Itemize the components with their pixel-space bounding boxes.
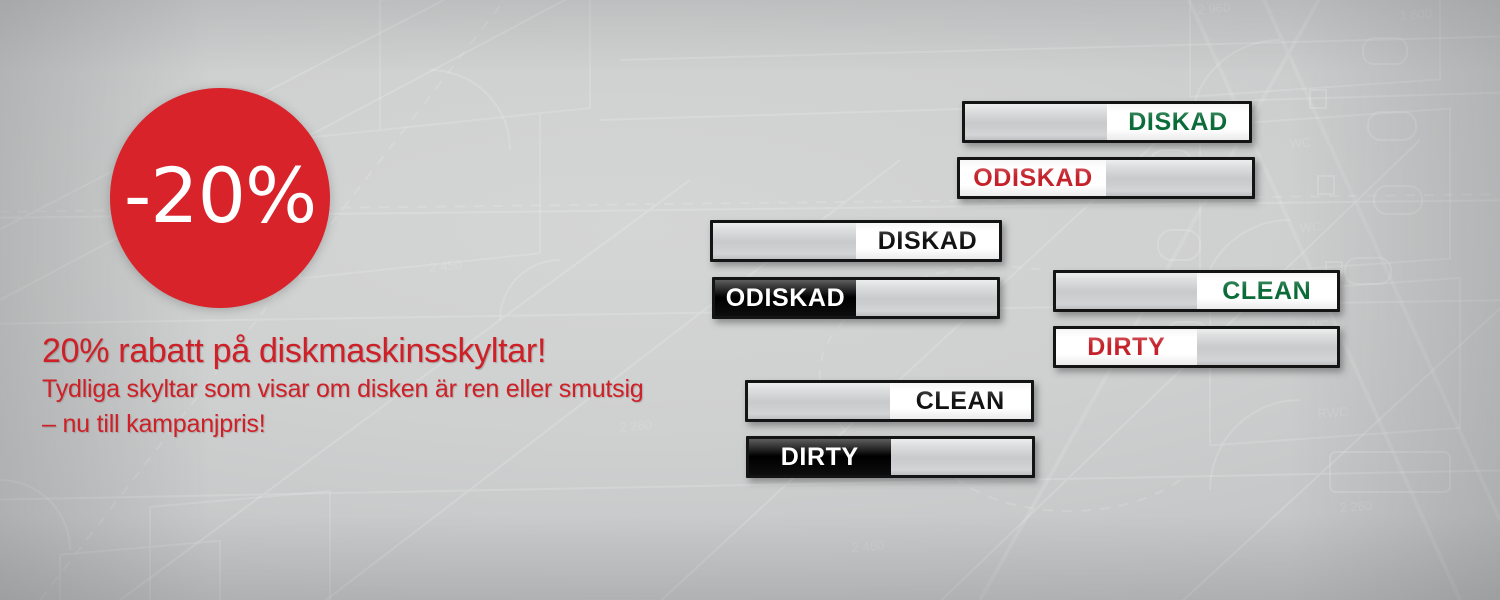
- sign-panel: ODISKAD: [715, 280, 856, 316]
- sign-face: DISKAD: [965, 104, 1249, 140]
- sign-blank-half: [1056, 273, 1197, 309]
- sign-label: CLEAN: [916, 387, 1005, 416]
- sign-label: CLEAN: [1222, 277, 1311, 306]
- sign-blank-half: [713, 223, 856, 259]
- sign-panel: CLEAN: [1197, 273, 1338, 309]
- sign-blank-half: [1106, 160, 1252, 196]
- sign-face: ODISKAD: [715, 280, 997, 316]
- sign-diskad-color: DISKAD: [962, 101, 1252, 143]
- sign-odiskad-mono: ODISKAD: [712, 277, 1000, 319]
- sign-dirty-mono: DIRTY: [746, 436, 1035, 478]
- sign-label: DIRTY: [781, 443, 859, 472]
- sign-panel: CLEAN: [890, 383, 1032, 419]
- promo-banner: WC WC WC RWC 2 260 2 460 2 960 1 600 2 4…: [0, 0, 1500, 600]
- sign-face: CLEAN: [748, 383, 1031, 419]
- sign-panel: DISKAD: [1107, 104, 1249, 140]
- sign-panel: DIRTY: [749, 439, 891, 475]
- sign-label: DISKAD: [1128, 108, 1227, 137]
- sign-face: CLEAN: [1056, 273, 1337, 309]
- sign-diskad-mono: DISKAD: [710, 220, 1002, 262]
- sign-face: DIRTY: [749, 439, 1032, 475]
- sign-blank-half: [965, 104, 1107, 140]
- sign-face: DIRTY: [1056, 329, 1337, 365]
- sign-label: DISKAD: [878, 227, 977, 256]
- sign-panel: ODISKAD: [960, 160, 1106, 196]
- discount-badge-label: -20%: [124, 158, 316, 234]
- sign-dirty-color: DIRTY: [1053, 326, 1340, 368]
- discount-badge: -20%: [110, 88, 330, 308]
- sign-blank-half: [748, 383, 890, 419]
- promo-subline-1: Tydliga skyltar som visar om disken är r…: [42, 373, 722, 405]
- sign-blank-half: [1197, 329, 1338, 365]
- promo-headline: 20% rabatt på diskmaskinsskyltar!: [42, 332, 722, 370]
- sign-blank-half: [856, 280, 997, 316]
- sign-clean-color: CLEAN: [1053, 270, 1340, 312]
- sign-label: ODISKAD: [973, 164, 1092, 193]
- sign-face: DISKAD: [713, 223, 999, 259]
- promo-subline-2: – nu till kampanjpris!: [42, 408, 722, 440]
- sign-label: ODISKAD: [726, 284, 845, 313]
- sign-face: ODISKAD: [960, 160, 1252, 196]
- sign-blank-half: [891, 439, 1033, 475]
- sign-panel: DIRTY: [1056, 329, 1197, 365]
- promo-copy: 20% rabatt på diskmaskinsskyltar! Tydlig…: [42, 332, 722, 440]
- sign-odiskad-color: ODISKAD: [957, 157, 1255, 199]
- sign-panel: DISKAD: [856, 223, 999, 259]
- sign-label: DIRTY: [1087, 333, 1165, 362]
- sign-clean-mono: CLEAN: [745, 380, 1034, 422]
